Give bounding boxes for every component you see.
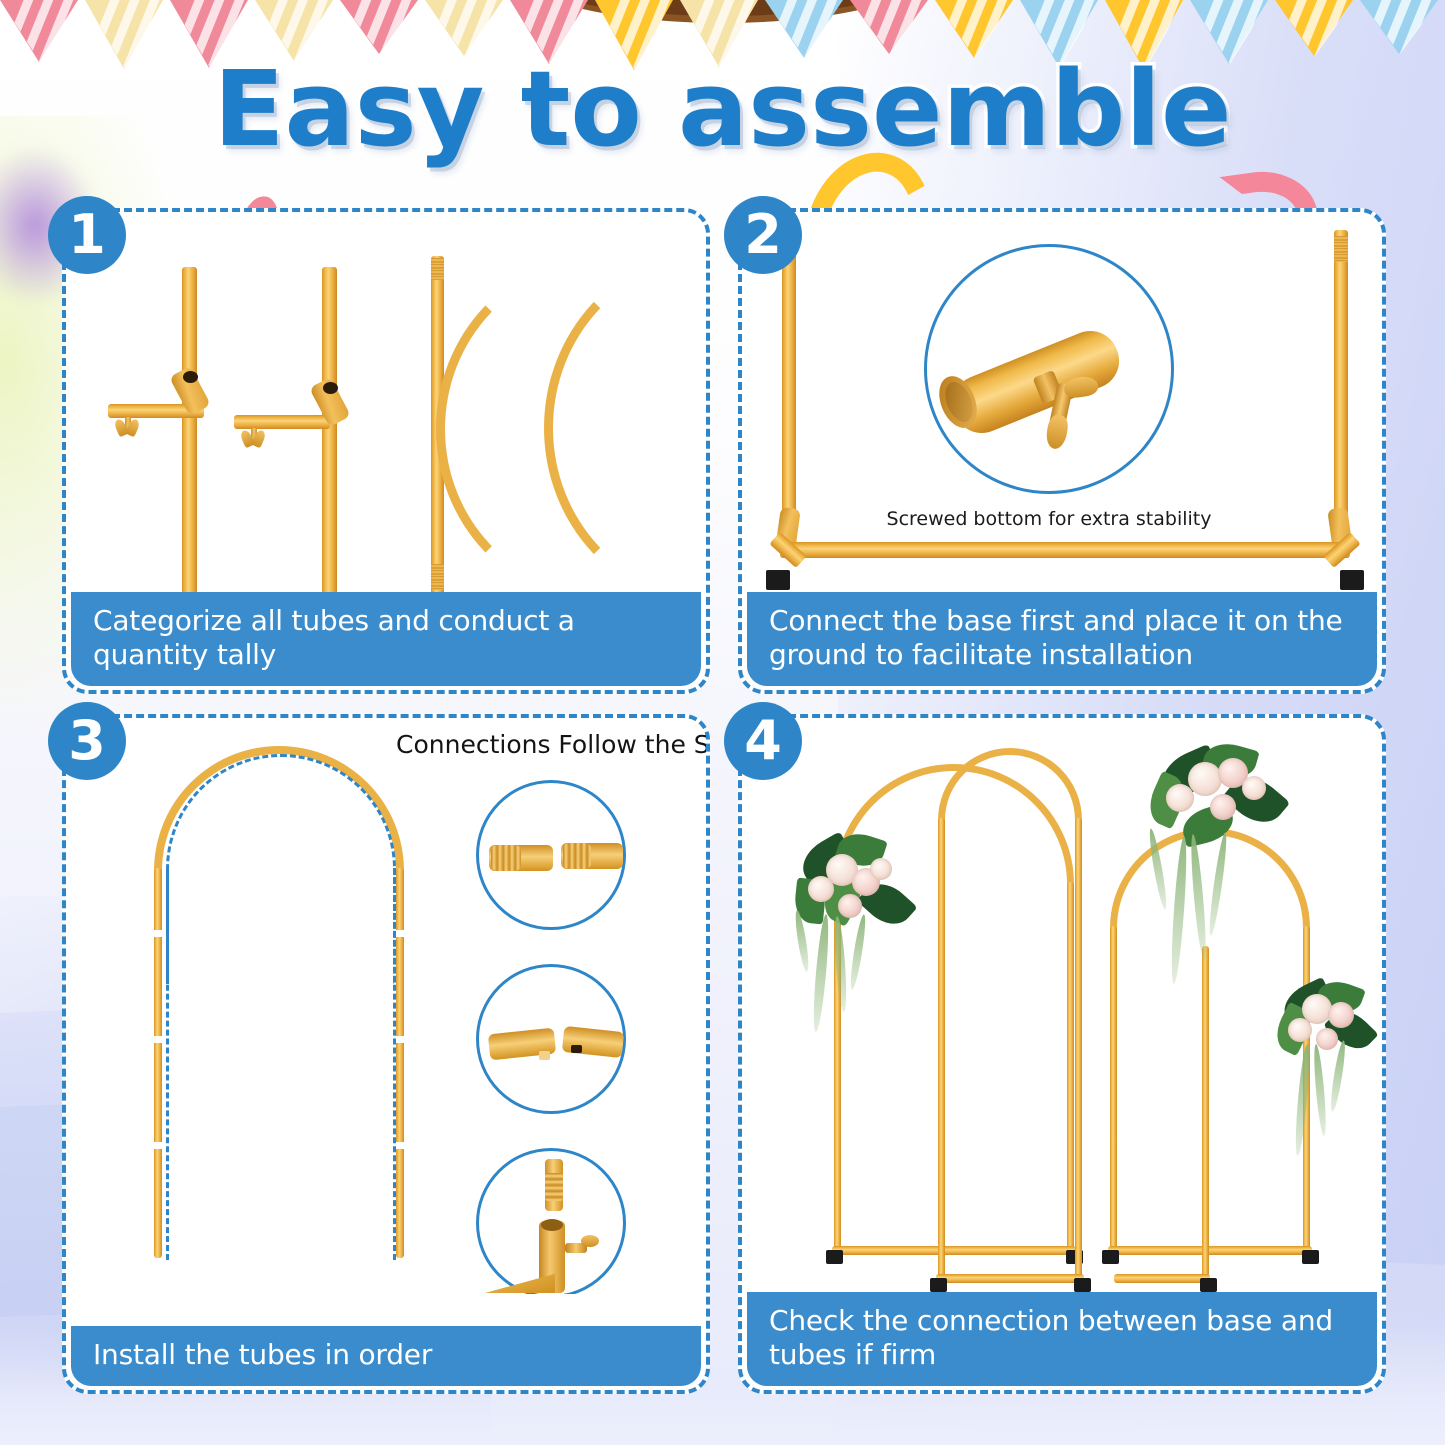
arch-guide-right	[393, 868, 396, 1260]
step-1-artwork	[66, 212, 706, 594]
step-3-artwork: Connections Follow the Steps:	[66, 718, 706, 1294]
tube-straight-ferrule-bottom	[431, 564, 444, 590]
step-panel-4: Check the connection between base and tu…	[738, 714, 1386, 1394]
arch-guide-curve	[166, 754, 396, 984]
arch3-center-foot	[1200, 1278, 1217, 1292]
tube-upright-a	[182, 267, 197, 594]
inset-wing-bottom	[1044, 414, 1070, 451]
connection-inset-1	[476, 780, 626, 930]
arch-leg-left	[154, 868, 162, 1258]
step-4-artwork	[742, 718, 1382, 1294]
arch2-leg-left	[938, 818, 945, 1280]
connection-inset-2	[476, 964, 626, 1114]
base-foot-cap-right	[1340, 570, 1364, 590]
arch1-base-bar	[832, 1246, 1076, 1255]
arch3-leg-left	[1110, 926, 1117, 1252]
inset2-pin	[539, 1051, 550, 1060]
arch3-base-bar	[1108, 1246, 1312, 1255]
tube-foot-b	[234, 415, 330, 429]
connection-inset-3	[476, 1148, 626, 1294]
arch-joint-l2	[152, 1036, 164, 1043]
arch3-foot-right	[1302, 1250, 1319, 1264]
base-crossbar	[780, 542, 1350, 558]
step-badge-2: 2	[724, 196, 802, 274]
inset3-wing	[581, 1235, 599, 1247]
arch1-foot-left	[826, 1250, 843, 1264]
tube-upright-b	[322, 267, 337, 594]
step-badge-1: 1	[48, 196, 126, 274]
step-panel-1: Categorize all tubes and conduct a quant…	[62, 208, 710, 694]
inset3-socket-bore	[541, 1219, 563, 1231]
connections-heading: Connections Follow the Steps:	[396, 730, 706, 759]
step-1-caption: Categorize all tubes and conduct a quant…	[71, 592, 701, 686]
base-foot-cap-left	[766, 570, 790, 590]
tube-curved-2	[544, 252, 706, 594]
arch1-leg-right	[1067, 882, 1074, 1252]
arch-joint-l1	[152, 930, 164, 937]
step-panel-3: Connections Follow the Steps:	[62, 714, 710, 1394]
detail-inset-circle	[924, 244, 1174, 494]
step-badge-3: 3	[48, 702, 126, 780]
base-foot-right-angle	[1323, 532, 1360, 568]
arch2-base-bar	[936, 1274, 1084, 1283]
arch3-inner-bar	[1114, 1274, 1210, 1283]
arch2-foot-left	[930, 1278, 947, 1292]
arch-joint-l3	[152, 1142, 164, 1149]
step-panel-2: Screwed bottom for extra stability Conne…	[738, 208, 1386, 694]
step-3-caption: Install the tubes in order	[71, 1326, 701, 1386]
inset1-thread-right	[563, 843, 591, 869]
inset2-tube-right	[562, 1026, 624, 1058]
socket-hole-a	[183, 371, 198, 383]
inset2-hole	[571, 1045, 582, 1053]
detail-inset-label: Screwed bottom for extra stability	[884, 508, 1214, 530]
inset3-thread	[545, 1173, 563, 1201]
tube-straight-ferrule-top	[431, 258, 444, 280]
base-leg-left	[782, 234, 796, 552]
arch-leg-right	[396, 868, 404, 1258]
step-2-caption: Connect the base first and place it on t…	[747, 592, 1377, 686]
base-leg-right-ferrule	[1334, 236, 1348, 262]
step-badge-4: 4	[724, 702, 802, 780]
arch2-curve	[938, 748, 1082, 892]
arch-guide-left	[166, 868, 169, 1260]
arch2-foot-right	[1074, 1278, 1091, 1292]
page-title: Easy to assemble	[0, 48, 1445, 170]
arch2-leg-right	[1075, 818, 1082, 1280]
arch3-foot-left	[1102, 1250, 1119, 1264]
inset1-thread-left	[491, 845, 521, 871]
step-2-artwork: Screwed bottom for extra stability	[742, 212, 1382, 594]
step-4-caption: Check the connection between base and tu…	[747, 1292, 1377, 1386]
socket-hole-b	[323, 382, 338, 394]
arch3-center-post	[1202, 946, 1209, 1280]
base-leg-right	[1334, 230, 1348, 552]
infographic-page: Easy to assemble	[0, 0, 1445, 1445]
